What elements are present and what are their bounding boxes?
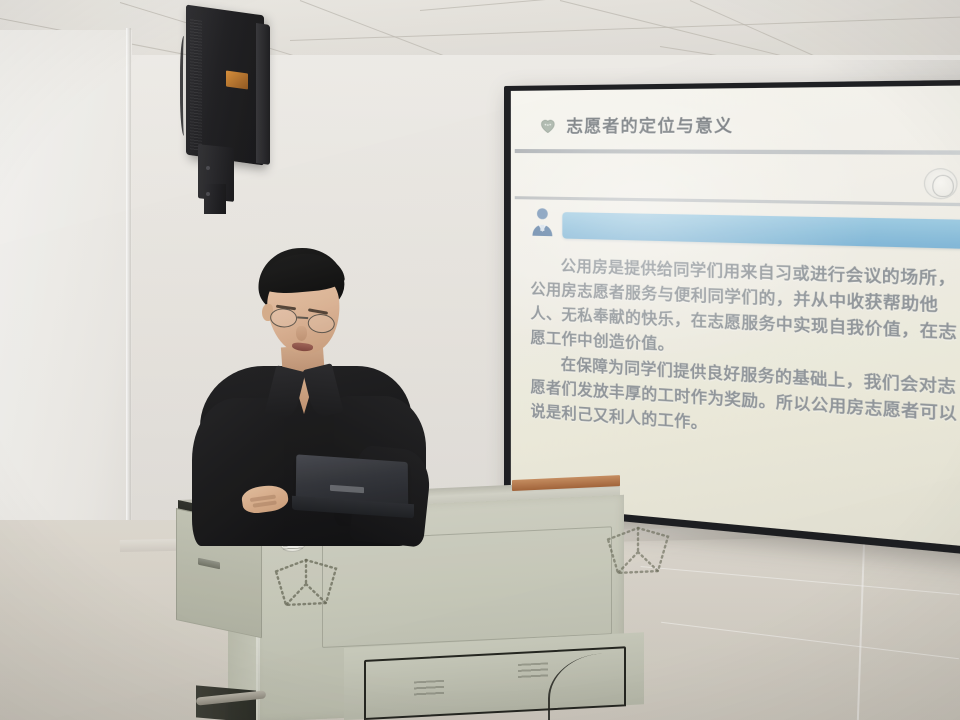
speaker-side-panel — [256, 23, 270, 165]
podium-perforation-pattern-2 — [600, 518, 676, 582]
cabinet-vent-right — [518, 662, 548, 680]
presenter-nose — [296, 326, 307, 341]
cabinet-vent-left — [414, 680, 444, 698]
speaker-badge — [226, 70, 248, 89]
university-seal-icon — [924, 168, 958, 199]
heart-icon — [538, 115, 557, 134]
presenter-silhouette-icon — [529, 205, 559, 240]
podium-perforation-pattern-1 — [268, 550, 344, 614]
speaker-mount-arm — [204, 184, 226, 214]
slide-accent-bar — [562, 212, 960, 249]
slide-title: 志愿者的定位与意义 — [566, 112, 733, 137]
presenter-left-shoulder — [192, 398, 284, 546]
slide-secondary-divider — [515, 196, 960, 206]
slide-title-divider — [515, 149, 960, 155]
speaker-grille — [190, 19, 202, 153]
speaker-assembly — [176, 6, 286, 196]
slide-header: 志愿者的定位与意义 — [511, 97, 960, 151]
classroom-photo-scene: 志愿者的定位与意义 公用房是提供给同学们用来自习或进行会议的场所，公用房志愿 — [0, 0, 960, 720]
slide-body: 公用房是提供给同学们用来自习或进行会议的场所，公用房志愿者服务与便利同学们的，并… — [530, 254, 960, 457]
